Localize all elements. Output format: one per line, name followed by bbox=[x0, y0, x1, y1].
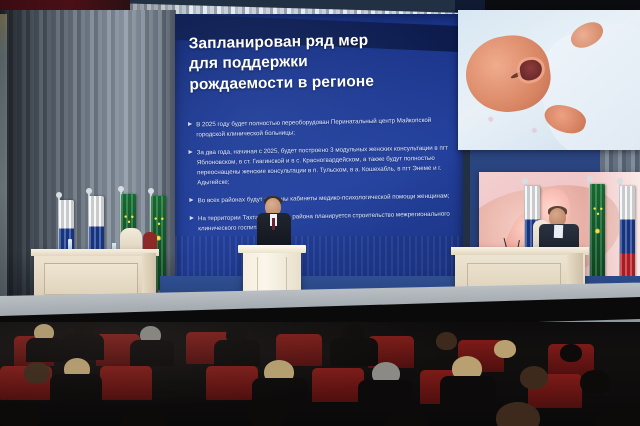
slide-bullet-text: В 2025 году будет полностью переоборудов… bbox=[196, 115, 450, 140]
speaker-tie bbox=[272, 218, 275, 230]
adygea-flag: ✹ bbox=[590, 184, 605, 288]
triangle-bullet-icon: ▶ bbox=[189, 197, 193, 207]
flag-folds bbox=[620, 186, 635, 288]
speaker-at-podium bbox=[255, 198, 293, 250]
triangle-bullet-icon: ▶ bbox=[188, 149, 193, 189]
slide-bullet-text: Во всех районах будут созданы кабинеты м… bbox=[198, 192, 452, 207]
slide-bullet-item: ▶ В 2025 году будет полностью переоборуд… bbox=[188, 115, 450, 140]
flag-finial bbox=[617, 178, 623, 184]
curtain-edge-sliver bbox=[0, 14, 7, 306]
official-shirt bbox=[554, 225, 563, 238]
official-at-table bbox=[539, 208, 579, 252]
slide-bullet-item: ▶ За два года, начиная с 2025, будет пос… bbox=[188, 144, 451, 189]
slide-bullet-item: ▶ Во всех районах будут созданы кабинеты… bbox=[189, 192, 451, 207]
slide-bullet-text: За два года, начиная с 2025, будет постр… bbox=[197, 144, 451, 189]
audience-ambient-light bbox=[0, 322, 640, 426]
red-chair bbox=[143, 232, 157, 250]
triangle-bullet-icon: ▶ bbox=[188, 120, 193, 140]
flag-folds bbox=[590, 184, 605, 288]
slide-title: Запланирован ряд мер для поддержки рожда… bbox=[188, 30, 439, 96]
conference-hall-screenshot: Запланирован ряд мер для поддержки рожда… bbox=[0, 0, 640, 426]
table-top bbox=[31, 249, 159, 256]
adygea-stars-icon bbox=[123, 215, 134, 223]
russia-flag bbox=[620, 186, 635, 288]
adygea-arrow-star-icon: ✹ bbox=[594, 228, 601, 236]
flag-finial bbox=[522, 178, 528, 184]
adygea-stars-icon bbox=[153, 217, 164, 225]
flag-finial bbox=[587, 176, 593, 182]
flag-finial bbox=[56, 192, 62, 198]
flag-finial bbox=[148, 188, 154, 194]
newborn-yawning-photo bbox=[458, 10, 640, 150]
triangle-bullet-icon: ▶ bbox=[190, 215, 195, 235]
flag-finial bbox=[118, 186, 124, 192]
projection-screen: Запланирован ряд мер для поддержки рожда… bbox=[175, 14, 463, 284]
adygea-stars-icon bbox=[592, 207, 603, 215]
slide-bullet-text: На территории Тахтамукайского района пла… bbox=[198, 210, 452, 235]
podium-top bbox=[238, 245, 306, 253]
slide-bullet-item: ▶ На территории Тахтамукайского района п… bbox=[190, 210, 452, 235]
flag-finial bbox=[86, 188, 92, 194]
table-front-panel bbox=[44, 263, 138, 295]
slide-bullet-list: ▶ В 2025 году будет полностью переоборуд… bbox=[188, 115, 452, 242]
